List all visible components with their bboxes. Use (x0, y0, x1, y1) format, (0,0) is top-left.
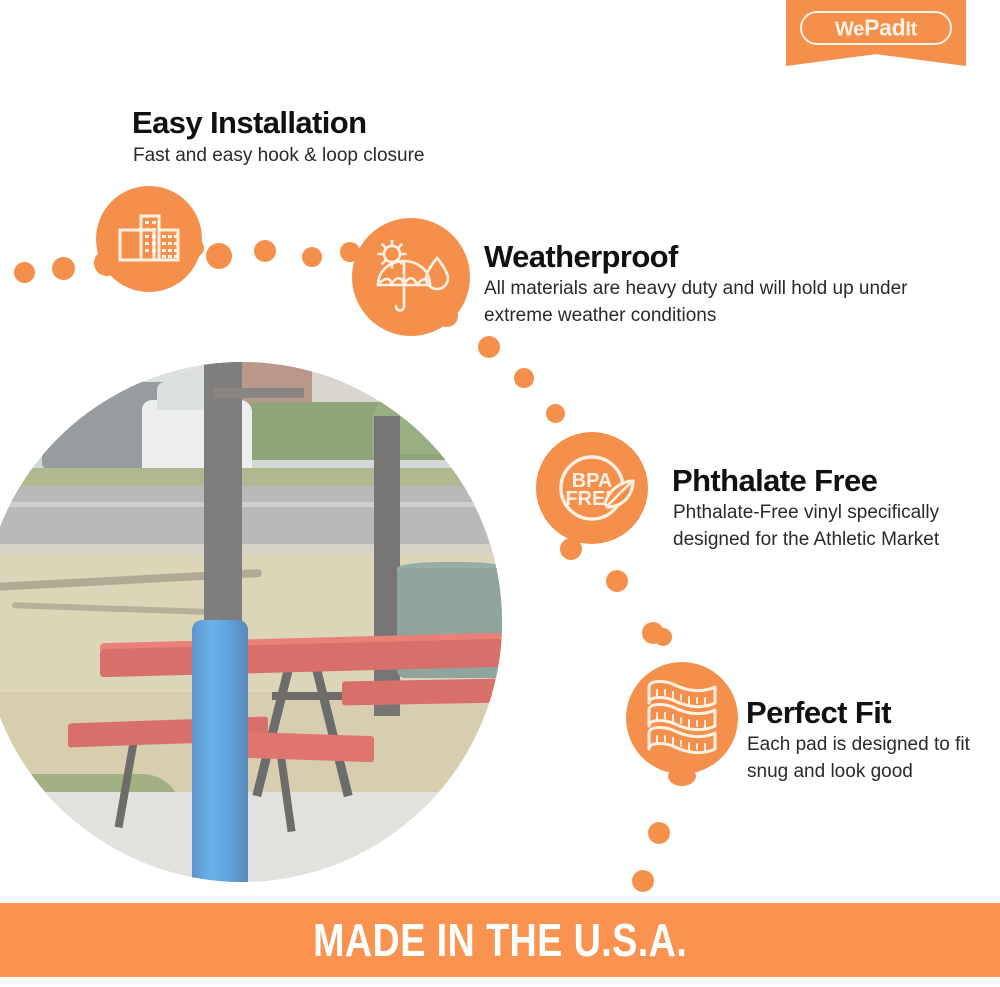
made-in-usa-banner: MADE IN THE U.S.A. (0, 903, 1000, 977)
bpa-free-leaf-icon: BPA FREE (549, 445, 635, 531)
trail-dot (514, 368, 534, 388)
made-in-usa-text: MADE IN THE U.S.A. (313, 913, 687, 967)
trail-dot (478, 336, 500, 358)
feature-desc-perfect-fit: Each pad is designed to fit snug and loo… (747, 732, 977, 786)
feature-title-weatherproof: Weatherproof (484, 240, 678, 274)
trail-dot (254, 240, 276, 262)
measuring-tape-icon (641, 677, 723, 759)
brand-logo: WePadIt (786, 0, 966, 66)
feature-desc-phthalate-free: Phthalate-Free vinyl specifically design… (673, 500, 943, 554)
logo-text-we: We (835, 19, 864, 41)
trail-dot (52, 257, 75, 280)
trail-dot (606, 570, 628, 592)
icon-easy-installation (96, 186, 202, 292)
building-icon (118, 210, 180, 268)
feature-title-perfect-fit: Perfect Fit (746, 696, 891, 730)
trail-dot (546, 404, 565, 423)
trail-dot (654, 628, 672, 646)
feature-title-phthalate-free: Phthalate Free (672, 464, 877, 498)
icon-nub (436, 305, 458, 327)
icon-nub (340, 242, 360, 262)
trail-dot (648, 822, 670, 844)
feature-desc-weatherproof: All materials are heavy duty and will ho… (484, 276, 914, 330)
logo-text-it: It (905, 19, 917, 41)
feature-title-easy-installation: Easy Installation (132, 106, 366, 140)
logo-outline-box: WePadIt (800, 11, 952, 45)
trail-dot (206, 243, 232, 269)
product-photo-blue-pole-pad (0, 362, 502, 882)
infographic-page: WePadIt Easy Installation Fast and (0, 0, 1000, 987)
icon-nub (668, 766, 696, 786)
icon-nub (186, 239, 204, 257)
icon-phthalate-free: BPA FREE (536, 432, 648, 544)
trail-dot (302, 247, 322, 267)
trail-dot (632, 870, 654, 892)
feature-desc-easy-installation: Fast and easy hook & loop closure (133, 143, 553, 170)
logo-text-pad: Pad (864, 15, 905, 41)
logo-text: WePadIt (802, 17, 950, 40)
icon-perfect-fit (626, 662, 738, 774)
icon-nub (560, 538, 582, 560)
trail-dot (14, 262, 35, 283)
sun-umbrella-raindrop-icon (372, 240, 450, 314)
